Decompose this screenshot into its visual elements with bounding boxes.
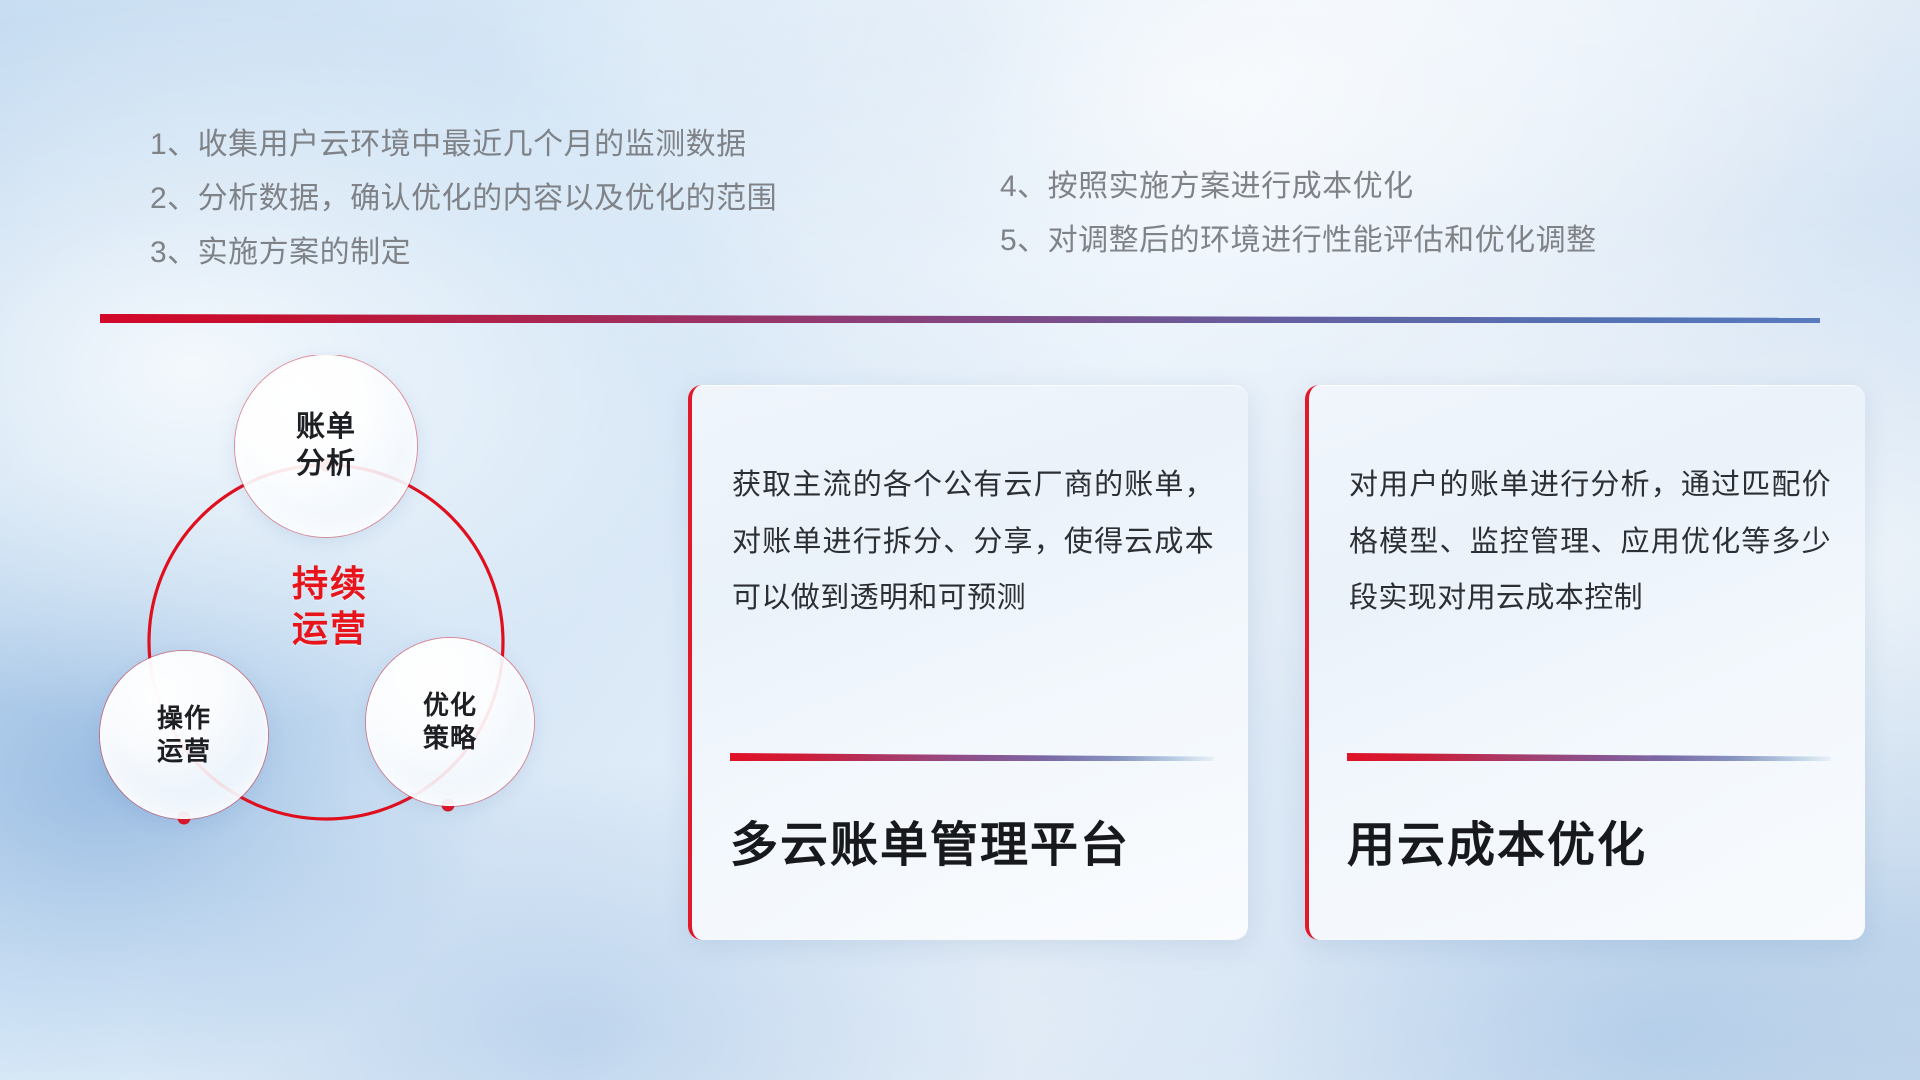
card-divider — [1347, 753, 1831, 761]
venn-node-label-line2: 分析 — [296, 446, 356, 483]
card-divider-bar — [730, 753, 1214, 761]
steps-right-column: 4、按照实施方案进行成本优化 5、对调整后的环境进行性能评估和优化调整 — [1000, 160, 1597, 268]
venn-node-label-line1: 优化 — [423, 689, 477, 722]
card-body-text: 对用户的账单进行分析，通过匹配价格模型、监控管理、应用优化等多少段实现对用云成本… — [1349, 457, 1831, 627]
venn-node-label-line2: 策略 — [423, 722, 477, 755]
venn-center-label: 持续 运营 — [250, 537, 410, 677]
steps-left-column: 1、收集用户云环境中最近几个月的监测数据 2、分析数据，确认优化的内容以及优化的… — [150, 118, 777, 280]
card-cloud-cost-optimization[interactable]: 对用户的账单进行分析，通过匹配价格模型、监控管理、应用优化等多少段实现对用云成本… — [1305, 385, 1865, 940]
venn-node-bill-analysis[interactable]: 账单 分析 — [235, 355, 417, 537]
card-title: 多云账单管理平台 — [730, 805, 1130, 875]
card-divider — [730, 753, 1214, 761]
card-body-text: 获取主流的各个公有云厂商的账单，对账单进行拆分、分享，使得云成本可以做到透明和可… — [732, 457, 1214, 627]
venn-center-label-line1: 持续 — [292, 562, 368, 607]
step-item: 2、分析数据，确认优化的内容以及优化的范围 — [150, 172, 777, 226]
card-title: 用云成本优化 — [1347, 805, 1647, 875]
venn-node-label-line1: 账单 — [296, 409, 356, 446]
venn-node-operations[interactable]: 操作 运营 — [100, 651, 268, 819]
venn-node-label-line1: 操作 — [157, 702, 211, 735]
step-item: 4、按照实施方案进行成本优化 — [1000, 160, 1597, 214]
section-divider-bar — [100, 314, 1820, 323]
step-item: 1、收集用户云环境中最近几个月的监测数据 — [150, 118, 777, 172]
step-item: 5、对调整后的环境进行性能评估和优化调整 — [1000, 214, 1597, 268]
card-divider-bar — [1347, 753, 1831, 761]
venn-node-label-line2: 运营 — [157, 735, 211, 768]
venn-diagram: 账单 分析 操作 运营 优化 策略 持续 运营 — [95, 355, 615, 930]
card-multi-cloud-billing-platform[interactable]: 获取主流的各个公有云厂商的账单，对账单进行拆分、分享，使得云成本可以做到透明和可… — [688, 385, 1248, 940]
venn-center-label-line2: 运营 — [292, 607, 368, 652]
section-divider — [100, 314, 1820, 323]
step-item: 3、实施方案的制定 — [150, 226, 777, 280]
